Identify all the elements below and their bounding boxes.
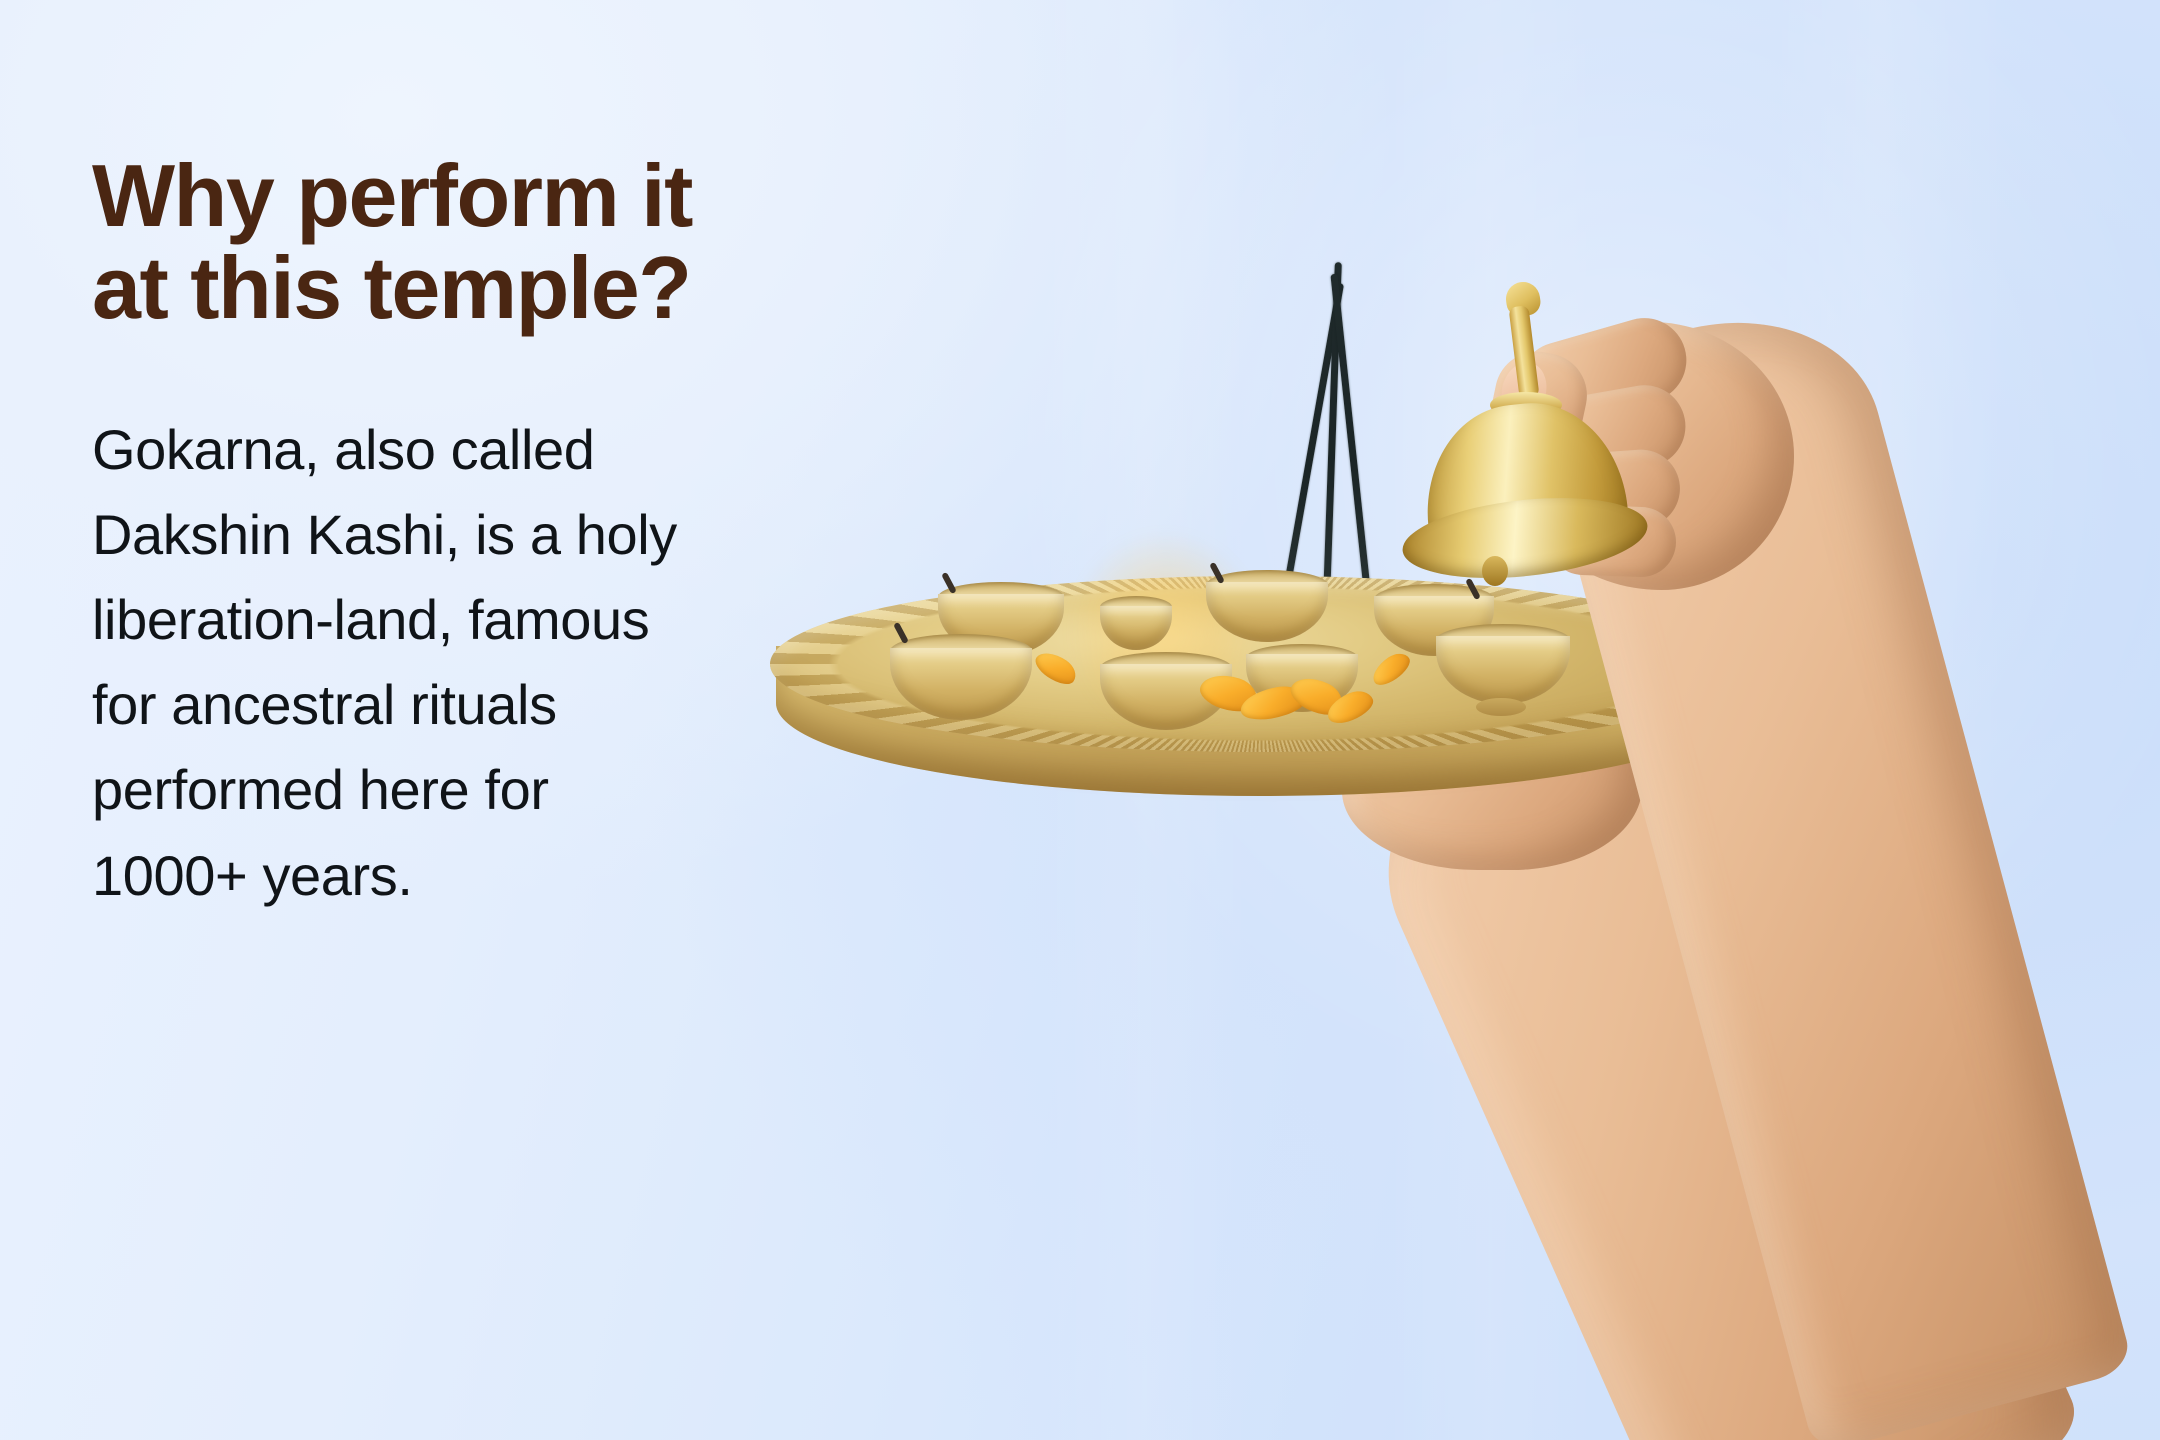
slide-canvas: Why perform it at this temple? Gokarna, … (0, 0, 2160, 1440)
bell-clapper (1482, 556, 1508, 586)
puja-thali-photo (1020, 0, 2160, 1440)
diya-foot (1476, 698, 1526, 716)
page-title: Why perform it at this temple? (92, 150, 972, 333)
